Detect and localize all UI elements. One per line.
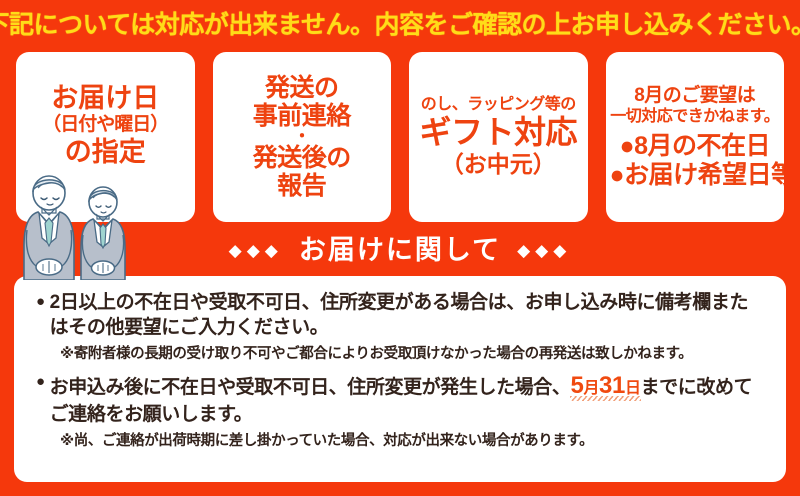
deadline-month-unit: 月 bbox=[583, 380, 599, 397]
poster-root: 下記については対応が出来ません。内容をご確認の上お申し込みください。 お届け日 … bbox=[0, 0, 800, 496]
note-item-1-sub-text: ※寄附者様の長期の受け取り不可やご都合によりお受取頂けなかった場合の再発送は致し… bbox=[60, 344, 764, 364]
note-item-1: ● 2日以上の不在日や受取不可日、住所変更がある場合は、お申し込み時に備考欄また… bbox=[36, 290, 764, 364]
card-august-requests-line-3: ●8月の不在日 bbox=[610, 132, 781, 160]
card-delivery-date-text: お届け日 （日付や曜日） の指定 bbox=[20, 83, 191, 168]
note-item-2-sub-text: ※尚、ご連絡が出荷時期に差し掛かっていた場合、対応が出来ない場合があります。 bbox=[60, 431, 764, 451]
card-august-requests-text: 8月のご要望は 一切対応できかねます。 ●8月の不在日 ●お届け希望日等 bbox=[610, 85, 781, 188]
card-shipping-contact-line-5: 報告 bbox=[217, 172, 388, 200]
bowing-person-right bbox=[81, 187, 125, 280]
bowing-people-illustration bbox=[18, 168, 134, 280]
card-shipping-contact-text: 発送の 事前連絡 ・ 発送後の 報告 bbox=[217, 74, 388, 200]
header-banner: 下記については対応が出来ません。内容をご確認の上お申し込みください。 bbox=[0, 0, 800, 50]
note-item-2-main-text: お申込み後に不在日や受取不可日、住所変更が発生した場合、5月31日までに改めてご… bbox=[50, 370, 764, 428]
note-item-2: ● お申込み後に不在日や受取不可日、住所変更が発生した場合、5月31日までに改め… bbox=[36, 370, 764, 451]
note-item-1-main-text: 2日以上の不在日や受取不可日、住所変更がある場合は、お申し込み時に備考欄またはそ… bbox=[50, 290, 764, 341]
card-gift-wrapping: のし、ラッピング等の ギフト対応 （お中元） bbox=[409, 52, 588, 222]
bowing-person-left bbox=[24, 176, 74, 280]
deadline-month: 5 bbox=[570, 372, 583, 399]
bullet-icon: ● bbox=[36, 290, 45, 314]
card-delivery-date-line-3: の指定 bbox=[20, 137, 191, 167]
card-delivery-date-line-2: （日付や曜日） bbox=[20, 114, 191, 135]
card-shipping-contact: 発送の 事前連絡 ・ 発送後の 報告 bbox=[213, 52, 392, 222]
card-august-requests-line-4: ●お届け希望日等 bbox=[610, 161, 781, 189]
card-shipping-contact-separator: ・ bbox=[217, 130, 388, 144]
card-august-requests: 8月のご要望は 一切対応できかねます。 ●8月の不在日 ●お届け希望日等 bbox=[606, 52, 785, 222]
note-item-1-main: ● 2日以上の不在日や受取不可日、住所変更がある場合は、お申し込み時に備考欄また… bbox=[36, 290, 764, 341]
card-shipping-contact-line-1: 発送の bbox=[217, 74, 388, 102]
card-delivery-date-line-1: お届け日 bbox=[20, 83, 191, 113]
card-shipping-contact-line-4: 発送後の bbox=[217, 144, 388, 172]
note-item-2-main: ● お申込み後に不在日や受取不可日、住所変更が発生した場合、5月31日までに改め… bbox=[36, 370, 764, 428]
diamond-right-icon: ◆◆◆ bbox=[517, 242, 571, 259]
header-warning-text: 下記については対応が出来ません。内容をご確認の上お申し込みください。 bbox=[0, 13, 800, 38]
diamond-left-icon: ◆◆◆ bbox=[229, 242, 283, 259]
deadline-day: 31 bbox=[599, 372, 625, 399]
card-gift-wrapping-line-2: ギフト対応 bbox=[413, 115, 584, 151]
notes-panel: ● 2日以上の不在日や受取不可日、住所変更がある場合は、お申し込み時に備考欄また… bbox=[14, 276, 786, 482]
card-shipping-contact-line-2: 事前連絡 bbox=[217, 102, 388, 130]
deadline-day-unit: 日 bbox=[625, 380, 641, 397]
note-item-2-text-before: お申込み後に不在日や受取不可日、住所変更が発生した場合、 bbox=[50, 377, 571, 398]
section-title: お届けに関して bbox=[299, 237, 501, 264]
card-august-requests-line-2: 一切対応できかねます。 bbox=[610, 108, 781, 126]
card-gift-wrapping-line-1: のし、ラッピング等の bbox=[413, 96, 584, 114]
deadline-date-highlight: 5月31日 bbox=[570, 372, 640, 401]
card-gift-wrapping-text: のし、ラッピング等の ギフト対応 （お中元） bbox=[413, 96, 584, 177]
bullet-icon: ● bbox=[36, 370, 45, 394]
card-gift-wrapping-line-3: （お中元） bbox=[413, 152, 584, 178]
card-august-requests-line-1: 8月のご要望は bbox=[610, 85, 781, 106]
